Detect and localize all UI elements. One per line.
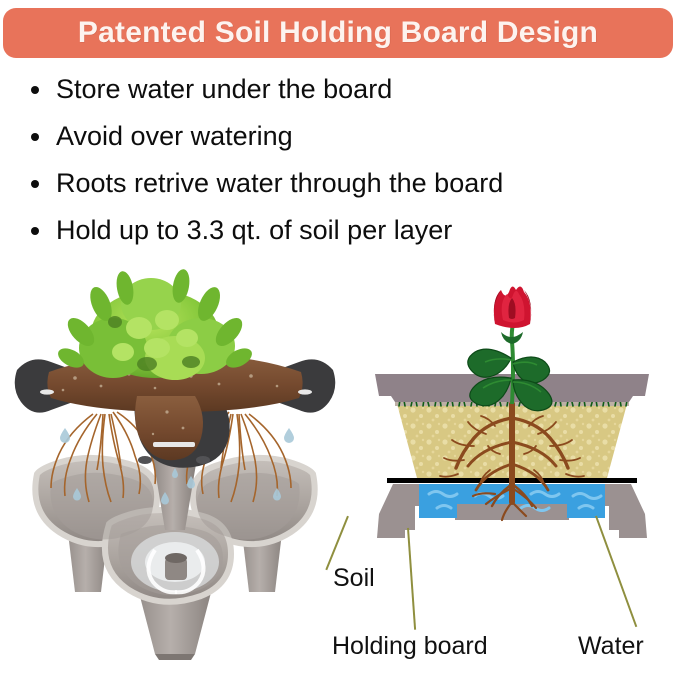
feature-label: Store water under the board	[56, 74, 392, 104]
bullet-dot-icon	[31, 133, 39, 141]
feature-item: Hold up to 3.3 qt. of soil per layer	[0, 207, 679, 254]
planter-cross-section-diagram	[345, 262, 679, 669]
label-soil: Soil	[333, 564, 375, 593]
feature-label: Avoid over watering	[56, 121, 293, 151]
feature-item: Roots retrive water through the board	[0, 160, 679, 207]
plant-foliage	[55, 268, 255, 380]
product-photo-svg	[5, 262, 345, 662]
label-water: Water	[578, 632, 644, 661]
page-title: Patented Soil Holding Board Design	[78, 16, 598, 50]
header-banner: Patented Soil Holding Board Design	[3, 8, 673, 58]
feature-item: Avoid over watering	[0, 113, 679, 160]
feature-label: Hold up to 3.3 qt. of soil per layer	[56, 215, 452, 245]
feature-item: Store water under the board	[0, 66, 679, 113]
bullet-dot-icon	[31, 227, 39, 235]
feature-label: Roots retrive water through the board	[56, 168, 503, 198]
product-photo-soil-holding-board	[5, 262, 345, 662]
label-holding-board: Holding board	[332, 632, 488, 661]
bullet-dot-icon	[31, 86, 39, 94]
figures-row: Soil Holding board Water	[0, 262, 679, 669]
feature-list: Store water under the board Avoid over w…	[0, 66, 679, 254]
bullet-dot-icon	[31, 180, 39, 188]
